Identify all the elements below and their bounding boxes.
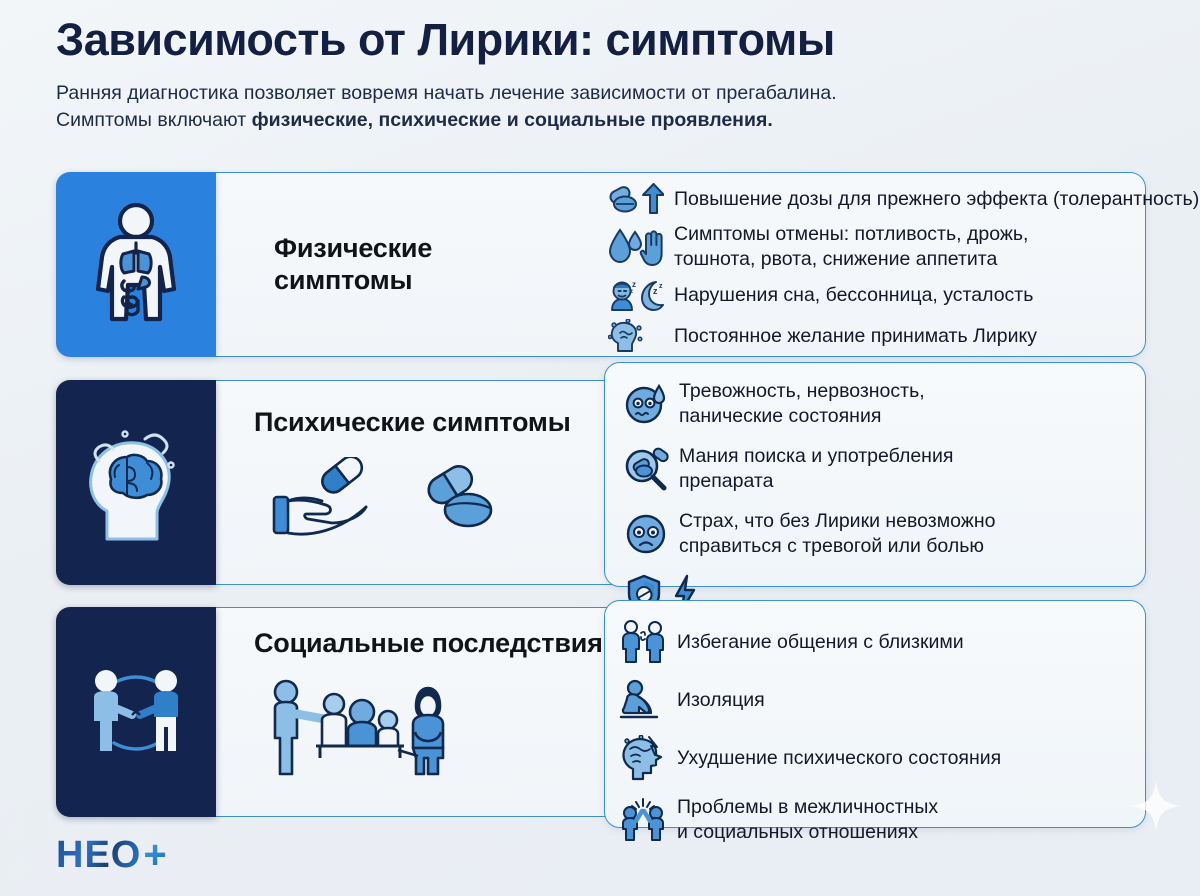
- infographic-page: Зависимость от Лирики: симптомы Ранняя д…: [0, 0, 1200, 896]
- list-item: Тревожность, нервозность, панические сос…: [623, 379, 1145, 428]
- social-panel: [56, 607, 216, 817]
- list-item-text: Проблемы в межличностных и социальных от…: [677, 795, 938, 844]
- svg-text:z: z: [653, 286, 658, 296]
- pills-up-arrow-icon: [608, 183, 664, 215]
- sleepless-face-moon-icon: z z z z: [608, 278, 664, 312]
- brand-logo[interactable]: НЕО +: [56, 833, 167, 878]
- list-item-text-line-1: Мания поиска и употребления: [679, 445, 953, 467]
- person-sitting-alone-icon: [619, 679, 667, 721]
- list-item-text: Нарушения сна, бессонница, усталость: [674, 283, 1033, 308]
- list-item: Проблемы в межличностных и социальных от…: [619, 795, 1145, 844]
- two-people-connection-icon: [78, 657, 194, 767]
- magnifier-pills-search-icon: [623, 446, 669, 492]
- list-item-text: Избегание общения с близкими: [677, 630, 964, 655]
- social-card-body: Социальные последствия: [216, 607, 616, 817]
- mental-heading: Психические симптомы: [254, 407, 616, 439]
- svg-text:z: z: [630, 289, 633, 295]
- two-people-conflict-icon: [619, 797, 667, 843]
- list-item-text: Постоянное желание принимать Лирику: [674, 324, 1037, 349]
- subtitle-line-1: Ранняя диагностика позволяет вовремя нач…: [56, 82, 837, 104]
- human-body-anatomy-icon: [90, 201, 182, 329]
- two-people-apart-icon: [619, 619, 667, 665]
- list-item: Постоянное желание принимать Лирику: [608, 319, 1200, 353]
- list-item: Ухудшение психического состояния: [619, 735, 1145, 781]
- list-item: z z z z Нарушения сна, бессонница, устал…: [608, 278, 1200, 312]
- mental-heading-wrap: Психические симптомы: [216, 381, 616, 439]
- physical-heading-line-2: симптомы: [274, 265, 412, 295]
- list-item: Симптомы отмены: потливость, дрожь, тошн…: [608, 222, 1200, 271]
- isolated-person: [413, 688, 443, 774]
- list-item: Изоляция: [619, 679, 1145, 721]
- worried-face-icon: [623, 511, 669, 557]
- subtitle-line-2-bold: физические, психические и социальные про…: [252, 109, 773, 131]
- sweat-drops-trembling-hand-icon: [608, 227, 664, 267]
- list-item-text-line-2: справиться с тревогой или болью: [679, 535, 984, 557]
- craving-head-icon: [608, 319, 664, 353]
- person-left: [94, 670, 132, 751]
- list-item: Страх, что без Лирики невозможно справит…: [623, 509, 1145, 558]
- social-heading: Социальные последствия: [254, 628, 616, 660]
- list-item: Избегание общения с близкими: [619, 619, 1145, 665]
- list-item-text: Тревожность, нервозность, панические сос…: [679, 379, 925, 428]
- hand-with-capsule-icon: [270, 457, 374, 539]
- list-item-text-line-2: панические состояния: [679, 405, 881, 427]
- list-item: Мания поиска и употребления препарата: [623, 444, 1145, 493]
- social-consequences-panel: Избегание общения с близкими Изоляция: [604, 600, 1146, 828]
- list-item-text-line-1: Проблемы в межличностных: [677, 796, 938, 818]
- list-item-text-line-1: Симптомы отмены: потливость, дрожь,: [674, 223, 1028, 245]
- logo-text: НЕО: [56, 834, 141, 877]
- social-consequences-list: Избегание общения с близкими Изоляция: [605, 601, 1145, 844]
- physical-heading: Физические симптомы: [216, 233, 432, 297]
- page-subtitle: Ранняя диагностика позволяет вовремя нач…: [56, 80, 1144, 135]
- physical-card-body: Физические симптомы Повышение дозы для п…: [216, 172, 1146, 357]
- list-item-text-line-2: и социальных отношениях: [677, 821, 918, 843]
- page-title: Зависимость от Лирики: симптомы: [56, 14, 1144, 66]
- mental-panel: [56, 380, 216, 585]
- mental-body-icons: [216, 439, 616, 539]
- list-item-text-line-2: тошнота, рвота, снижение аппетита: [674, 248, 997, 270]
- list-item-text-line-1: Страх, что без Лирики невозможно: [679, 510, 995, 532]
- physical-panel: [56, 172, 216, 357]
- mental-symptoms-list: Тревожность, нервозность, панические сос…: [605, 363, 1145, 614]
- family-group-avoidance-icon: [258, 668, 478, 786]
- svg-text:z: z: [659, 283, 663, 290]
- physical-symptoms-list: Повышение дозы для прежнего эффекта (тол…: [608, 183, 1200, 353]
- header: Зависимость от Лирики: симптомы Ранняя д…: [0, 0, 1200, 135]
- list-item-text-line-2: препарата: [679, 470, 773, 492]
- head-broken-mind-icon: [619, 735, 667, 781]
- list-item-text-line-1: Тревожность, нервозность,: [679, 380, 925, 402]
- list-item-text: Ухудшение психического состояния: [677, 746, 1001, 771]
- logo-plus-icon: +: [143, 833, 166, 878]
- person-right: [140, 670, 178, 751]
- family-behind-table: [322, 694, 398, 746]
- subtitle-line-2-prefix: Симптомы включают: [56, 109, 252, 131]
- section-social-consequences: Социальные последствия: [56, 607, 616, 817]
- list-item-text: Мания поиска и употребления препарата: [679, 444, 953, 493]
- anxious-face-sweat-icon: [623, 381, 669, 427]
- mental-card-body: Психические симптомы: [216, 380, 616, 585]
- list-item-text: Повышение дозы для прежнего эффекта (тол…: [674, 187, 1199, 212]
- section-mental-symptoms: Психические симптомы: [56, 380, 616, 585]
- mental-symptoms-panel: Тревожность, нервозность, панические сос…: [604, 362, 1146, 587]
- physical-heading-line-1: Физические: [274, 233, 432, 263]
- list-item-text: Изоляция: [677, 688, 765, 713]
- social-heading-wrap: Социальные последствия: [216, 608, 616, 660]
- pills-pair-icon: [416, 462, 502, 534]
- list-item-text: Страх, что без Лирики невозможно справит…: [679, 509, 995, 558]
- list-item-text: Симптомы отмены: потливость, дрожь, тошн…: [674, 222, 1028, 271]
- section-physical-symptoms: Физические симптомы Повышение дозы для п…: [56, 172, 1146, 357]
- social-body-icons: [216, 660, 616, 791]
- svg-text:z: z: [632, 280, 636, 289]
- head-brain-icon: [81, 423, 191, 543]
- list-item: Повышение дозы для прежнего эффекта (тол…: [608, 183, 1200, 215]
